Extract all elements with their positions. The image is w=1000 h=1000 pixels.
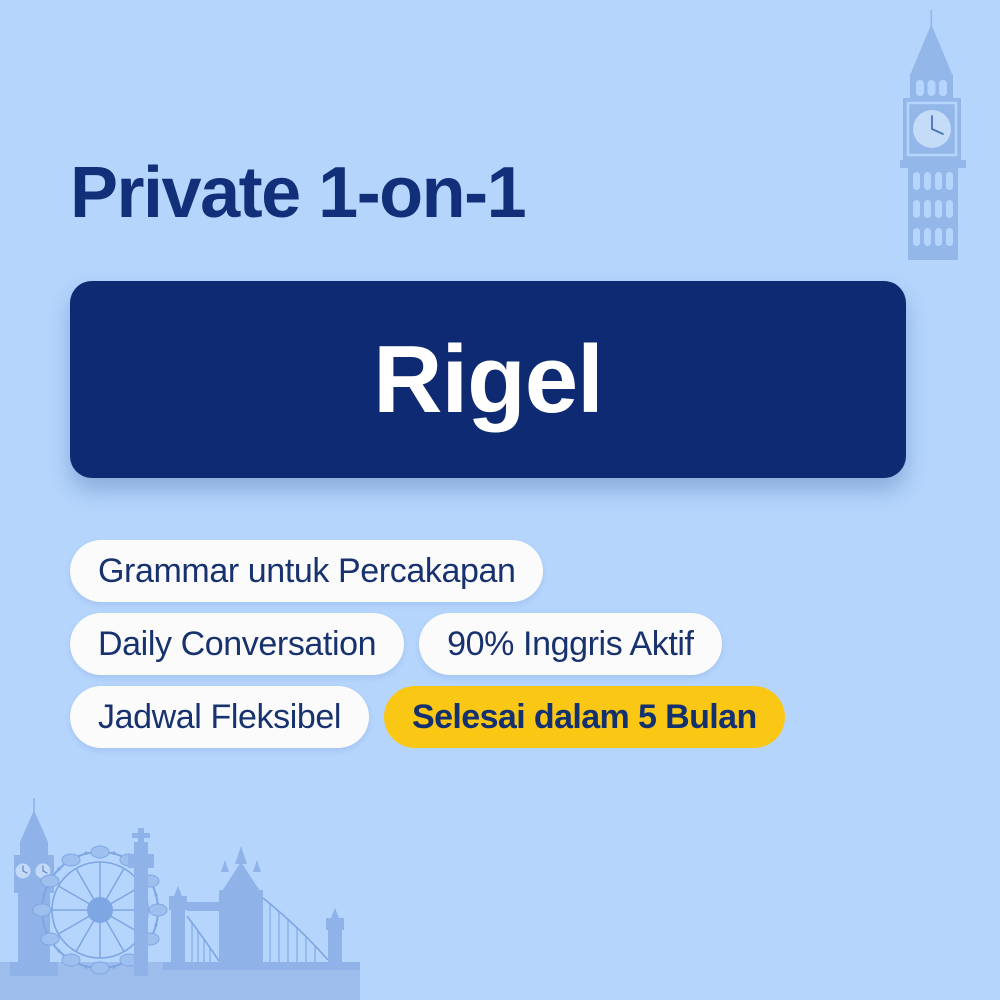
feature-pill-row: Jadwal FleksibelSelesai dalam 5 Bulan [70,686,990,748]
big-ben-icon [870,0,1000,260]
feature-pill: Daily Conversation [70,613,404,675]
program-name-badge: Rigel [70,281,906,478]
promo-poster: Private 1-on-1 Rigel Grammar untuk Perca… [0,0,1000,1000]
feature-pill-row: Daily Conversation90% Inggris Aktif [70,613,990,675]
feature-pill-row: Grammar untuk Percakapan [70,540,990,602]
program-name-label: Rigel [373,332,603,428]
london-skyline-icon [0,790,360,1000]
feature-pill-list: Grammar untuk PercakapanDaily Conversati… [70,540,990,759]
skyline-london-eye [33,846,167,974]
feature-pill: Jadwal Fleksibel [70,686,369,748]
feature-pill: 90% Inggris Aktif [419,613,721,675]
feature-pill-highlight: Selesai dalam 5 Bulan [384,686,785,748]
skyline-tower-bridge [163,846,360,970]
feature-pill: Grammar untuk Percakapan [70,540,543,602]
skyline-big-ben [10,798,58,976]
skyline-tower [128,828,154,976]
headline: Private 1-on-1 [70,157,525,229]
